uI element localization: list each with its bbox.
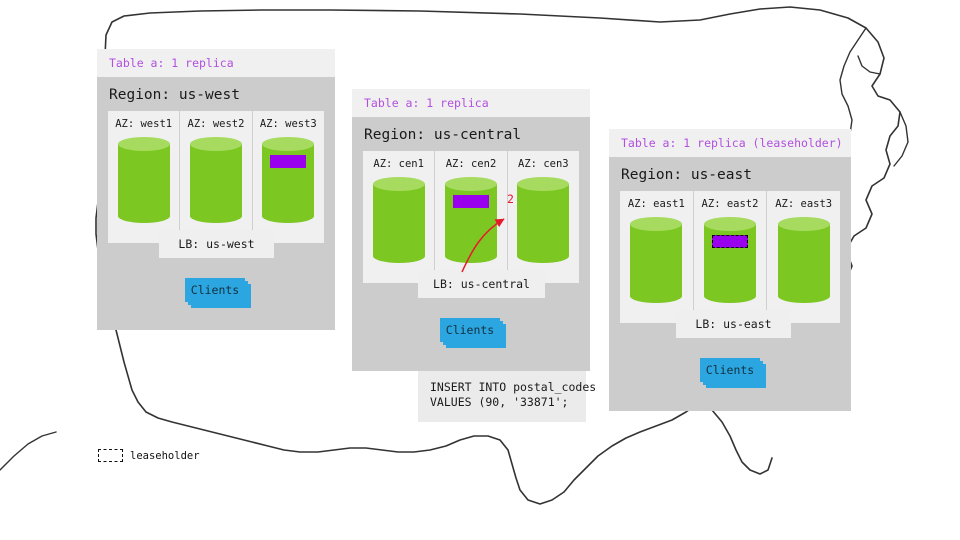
load-balancer-us-east[interactable]: LB: us-east	[676, 310, 791, 338]
replica-block	[453, 195, 489, 208]
az-cell-east1[interactable]: AZ: east1	[620, 191, 694, 323]
clients-stack-sheet-1[interactable]: Clients	[700, 358, 760, 382]
replica-block	[270, 155, 306, 168]
az-label: AZ: cen2	[446, 158, 497, 170]
clients-stack-sheet-1[interactable]: Clients	[440, 318, 500, 342]
database-cylinder-icon	[517, 177, 569, 263]
region-label: Region: us-east	[609, 157, 851, 191]
table-replica-title: Table a: 1 replica	[364, 96, 489, 110]
clients-button-us-west[interactable]: Clients	[185, 278, 251, 308]
az-cell-cen2[interactable]: AZ: cen2	[435, 151, 507, 283]
az-cell-west1[interactable]: AZ: west1	[108, 111, 180, 243]
az-cell-west2[interactable]: AZ: west2	[180, 111, 252, 243]
az-cell-cen1[interactable]: AZ: cen1	[363, 151, 435, 283]
lb-label: LB: us-east	[695, 317, 771, 331]
az-label: AZ: east3	[775, 198, 832, 210]
az-label: AZ: east1	[628, 198, 685, 210]
az-row: AZ: cen1 AZ: cen2 AZ: cen3	[363, 151, 579, 283]
leaseholder-swatch-icon	[98, 449, 123, 462]
table-replica-title: Table a: 1 replica (leaseholder)	[621, 136, 843, 150]
az-row: AZ: east1 AZ: east2 AZ: east3	[620, 191, 840, 323]
database-cylinder-icon	[630, 217, 682, 303]
lb-label: LB: us-west	[178, 237, 254, 251]
az-cell-east2[interactable]: AZ: east2	[694, 191, 768, 323]
clients-stack-sheet-1[interactable]: Clients	[185, 278, 245, 302]
az-label: AZ: cen1	[373, 158, 424, 170]
az-label: AZ: west1	[115, 118, 172, 130]
az-cell-west3[interactable]: AZ: west3	[253, 111, 324, 243]
database-cylinder-icon	[118, 137, 170, 223]
sql-statement-box: INSERT INTO postal_codes VALUES (90, '33…	[418, 371, 586, 422]
load-balancer-us-central[interactable]: LB: us-central	[418, 270, 545, 298]
region-panel-us-east[interactable]: Table a: 1 replica (leaseholder) Region:…	[609, 129, 851, 411]
panel-title-bar: Table a: 1 replica (leaseholder)	[609, 129, 851, 157]
region-label: Region: us-central	[352, 117, 590, 151]
az-label: AZ: west2	[188, 118, 245, 130]
az-label: AZ: west3	[260, 118, 317, 130]
database-cylinder-icon	[262, 137, 314, 223]
clients-button-us-east[interactable]: Clients	[700, 358, 766, 388]
region-label: Region: us-west	[97, 77, 335, 111]
sql-line-1: INSERT INTO postal_codes	[430, 380, 586, 395]
panel-title-bar: Table a: 1 replica	[97, 49, 335, 77]
region-panel-us-central[interactable]: Table a: 1 replica Region: us-central AZ…	[352, 89, 590, 371]
database-cylinder-icon	[373, 177, 425, 263]
az-row: AZ: west1 AZ: west2 AZ: west3	[108, 111, 324, 243]
database-cylinder-icon	[190, 137, 242, 223]
database-cylinder-icon	[704, 217, 756, 303]
panel-title-bar: Table a: 1 replica	[352, 89, 590, 117]
az-cell-east3[interactable]: AZ: east3	[767, 191, 840, 323]
table-replica-title: Table a: 1 replica	[109, 56, 234, 70]
sql-line-2: VALUES (90, '33871';	[430, 395, 586, 410]
clients-label: Clients	[706, 363, 754, 377]
legend-leaseholder: leaseholder	[98, 449, 200, 462]
database-cylinder-icon	[778, 217, 830, 303]
clients-label: Clients	[191, 283, 239, 297]
az-label: AZ: east2	[702, 198, 759, 210]
region-panel-us-west[interactable]: Table a: 1 replica Region: us-west AZ: w…	[97, 49, 335, 330]
load-balancer-us-west[interactable]: LB: us-west	[159, 230, 274, 258]
lb-label: LB: us-central	[433, 277, 530, 291]
az-cell-cen3[interactable]: AZ: cen3	[508, 151, 579, 283]
arrow-step-number: 2	[507, 192, 514, 206]
database-cylinder-icon	[445, 177, 497, 263]
legend-label: leaseholder	[130, 450, 200, 462]
replica-block-leaseholder	[712, 235, 748, 248]
clients-button-us-central[interactable]: Clients	[440, 318, 506, 348]
az-label: AZ: cen3	[518, 158, 569, 170]
clients-label: Clients	[446, 323, 494, 337]
